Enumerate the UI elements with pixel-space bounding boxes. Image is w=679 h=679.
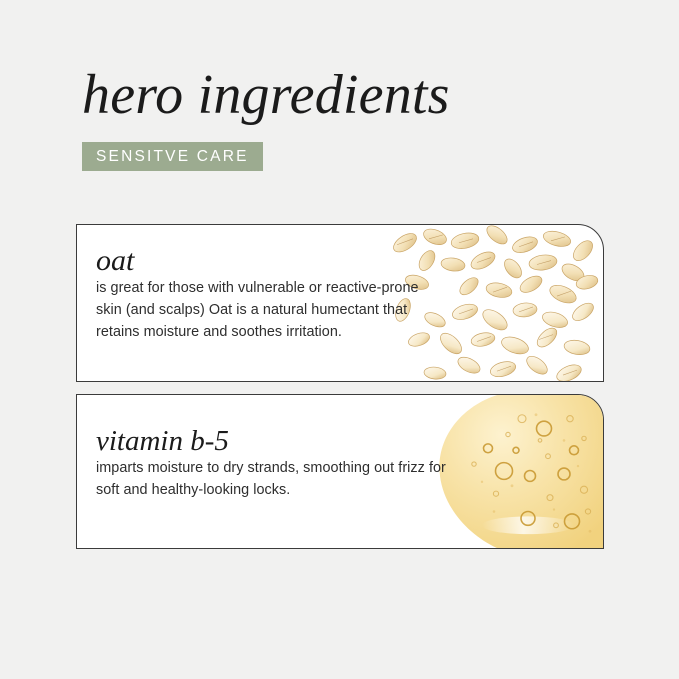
- card-title-oat: oat: [96, 245, 441, 277]
- card-description-oat: is great for those with vulnerable or re…: [96, 278, 441, 344]
- vitamin-b5-card-text: vitamin b-5 imparts moisture to dry stra…: [96, 426, 456, 502]
- page-header: hero ingredients SENSITVE CARE: [82, 66, 602, 171]
- card-title-vitamin-b5: vitamin b-5: [96, 426, 456, 457]
- oat-card-text: oat is great for those with vulnerable o…: [96, 245, 441, 344]
- ingredient-card-oat: oat is great for those with vulnerable o…: [76, 224, 604, 382]
- page-title: hero ingredients: [82, 66, 602, 125]
- ingredient-card-vitamin-b5: vitamin b-5 imparts moisture to dry stra…: [76, 394, 604, 549]
- status-badge: SENSITVE CARE: [82, 142, 263, 172]
- card-description-vitamin-b5: imparts moisture to dry strands, smoothi…: [96, 458, 456, 502]
- ingredients-page: hero ingredients SENSITVE CARE: [0, 0, 679, 679]
